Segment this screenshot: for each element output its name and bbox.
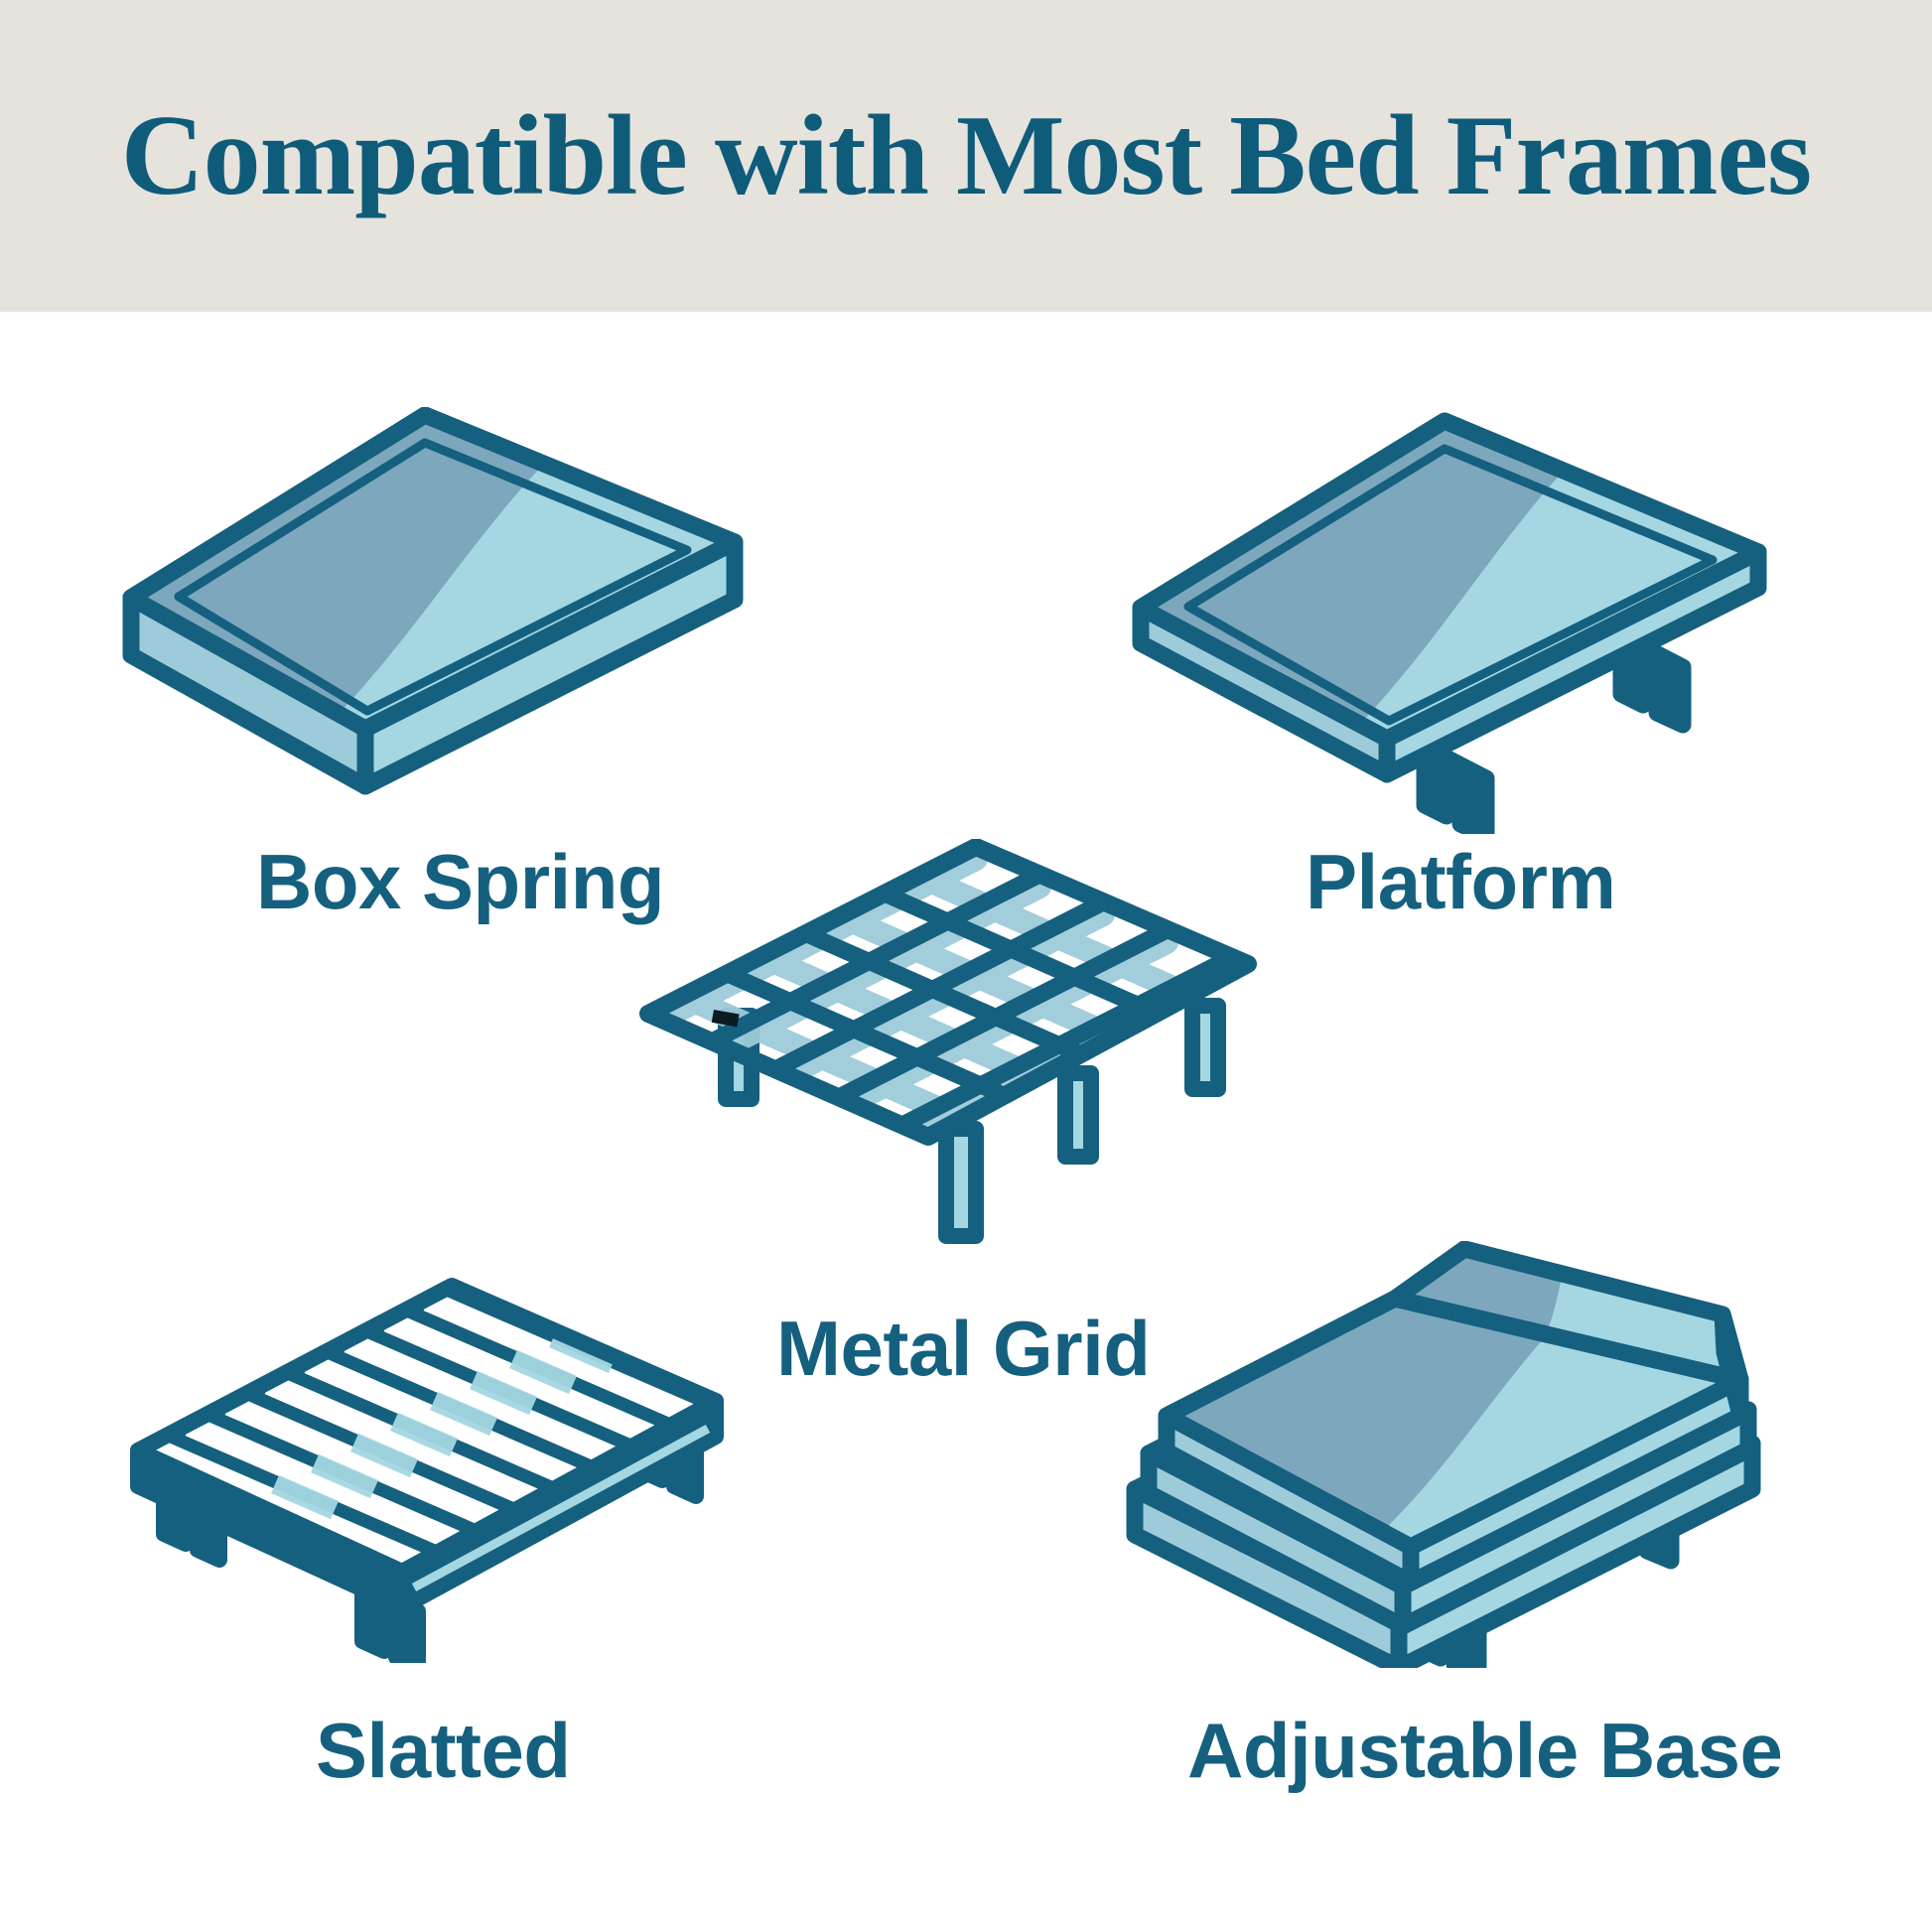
caption-slatted: Slatted bbox=[316, 1706, 571, 1796]
adjustable-base-illustration bbox=[1117, 1241, 1772, 1668]
page-title: Compatible with Most Bed Frames bbox=[0, 0, 1932, 312]
infographic-canvas: Compatible with Most Bed Frames Box Spri… bbox=[0, 0, 1932, 1932]
caption-metal-grid: Metal Grid bbox=[776, 1304, 1150, 1394]
slatted-base-illustration bbox=[124, 1266, 730, 1663]
metal-grid-illustration bbox=[630, 839, 1266, 1256]
caption-platform: Platform bbox=[1306, 837, 1615, 927]
caption-box-spring: Box Spring bbox=[256, 837, 664, 927]
platform-illustration bbox=[1127, 397, 1782, 834]
box-spring-illustration bbox=[117, 407, 753, 824]
caption-adjustable-base: Adjustable Base bbox=[1187, 1706, 1782, 1796]
